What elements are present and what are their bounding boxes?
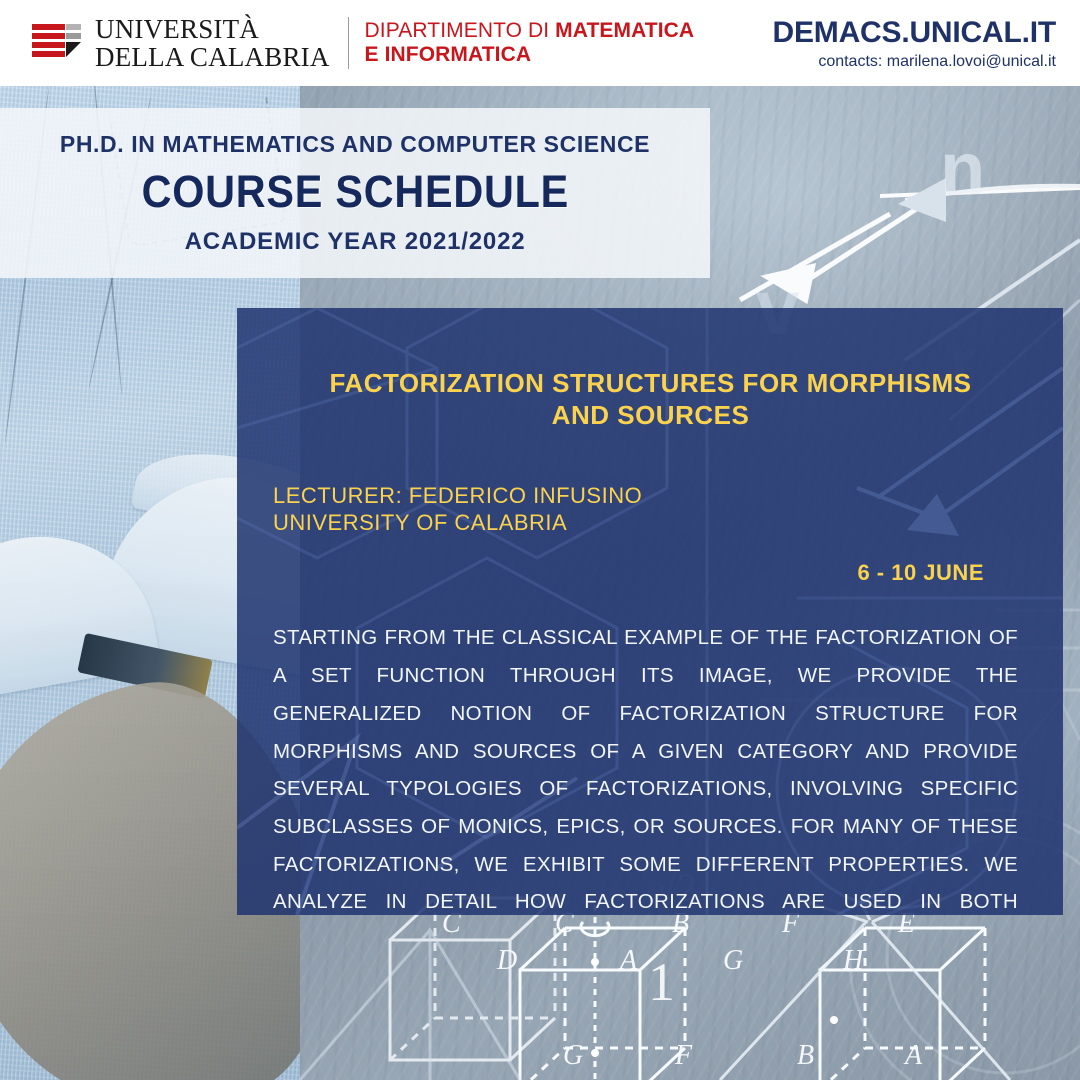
page-header: UNIVERSITÀ DELLA CALABRIA DIPARTIMENTO D… (0, 0, 1080, 86)
department-name: DIPARTIMENTO DI MATEMATICA E INFORMATICA (365, 19, 695, 66)
cube-label-mid-2: G (723, 945, 743, 977)
course-dates: 6 - 10 JUNE (273, 560, 1028, 586)
university-brand: UNIVERSITÀ DELLA CALABRIA DIPARTIMENTO D… (32, 15, 694, 71)
poster-canvas: n v r ln(n √2 1 C C B F E D A G H G F B … (0, 0, 1080, 1080)
site-url[interactable]: DEMACS.UNICAL.IT (773, 16, 1056, 50)
book-page (0, 518, 161, 704)
unical-logo-icon (32, 21, 82, 65)
course-title: FACTORIZATION STRUCTURES FOR MORPHISMS A… (273, 368, 1028, 431)
brand-divider (348, 17, 349, 69)
lecturer-affiliation: UNIVERSITY OF CALABRIA (273, 510, 1028, 536)
university-name-line1: UNIVERSITÀ (95, 15, 330, 43)
title-card: PH.D. IN MATHEMATICS AND COMPUTER SCIENC… (0, 108, 710, 278)
course-panel: FACTORIZATION STRUCTURES FOR MORPHISMS A… (237, 308, 1063, 915)
lecturer-name: LECTURER: FEDERICO INFUSINO (273, 483, 1028, 509)
contact-email[interactable]: contacts: marilena.lovoi@unical.it (773, 53, 1056, 71)
academic-year: ACADEMIC YEAR 2021/2022 (185, 228, 526, 256)
course-abstract: STARTING FROM THE CLASSICAL EXAMPLE OF T… (273, 619, 1028, 915)
cube-label-bottom-3: A (905, 1040, 922, 1072)
cube-label-bottom-0: G (563, 1040, 583, 1072)
page-title: COURSE SCHEDULE (141, 166, 568, 218)
university-name: UNIVERSITÀ DELLA CALABRIA (95, 15, 330, 71)
cube-label-bottom-2: B (797, 1040, 814, 1072)
department-line1-bold: MATEMATICA (555, 19, 694, 42)
cube-label-mid-1: A (620, 945, 637, 977)
lecturer-block: LECTURER: FEDERICO INFUSINO UNIVERSITY O… (273, 483, 1028, 536)
site-info: DEMACS.UNICAL.IT contacts: marilena.lovo… (773, 16, 1066, 71)
math-glyph-one: 1 (648, 955, 675, 1009)
department-line2: E INFORMATICA (365, 43, 695, 67)
department-line1-light: DIPARTIMENTO DI (365, 19, 556, 42)
book-spine (77, 633, 212, 699)
cube-label-mid-0: D (497, 945, 517, 977)
program-kicker: PH.D. IN MATHEMATICS AND COMPUTER SCIENC… (60, 131, 650, 158)
university-name-line2: DELLA CALABRIA (95, 43, 330, 71)
cube-label-mid-3: H (843, 945, 863, 977)
vector-label-n: n (940, 132, 985, 206)
cube-label-bottom-1: F (675, 1040, 692, 1072)
